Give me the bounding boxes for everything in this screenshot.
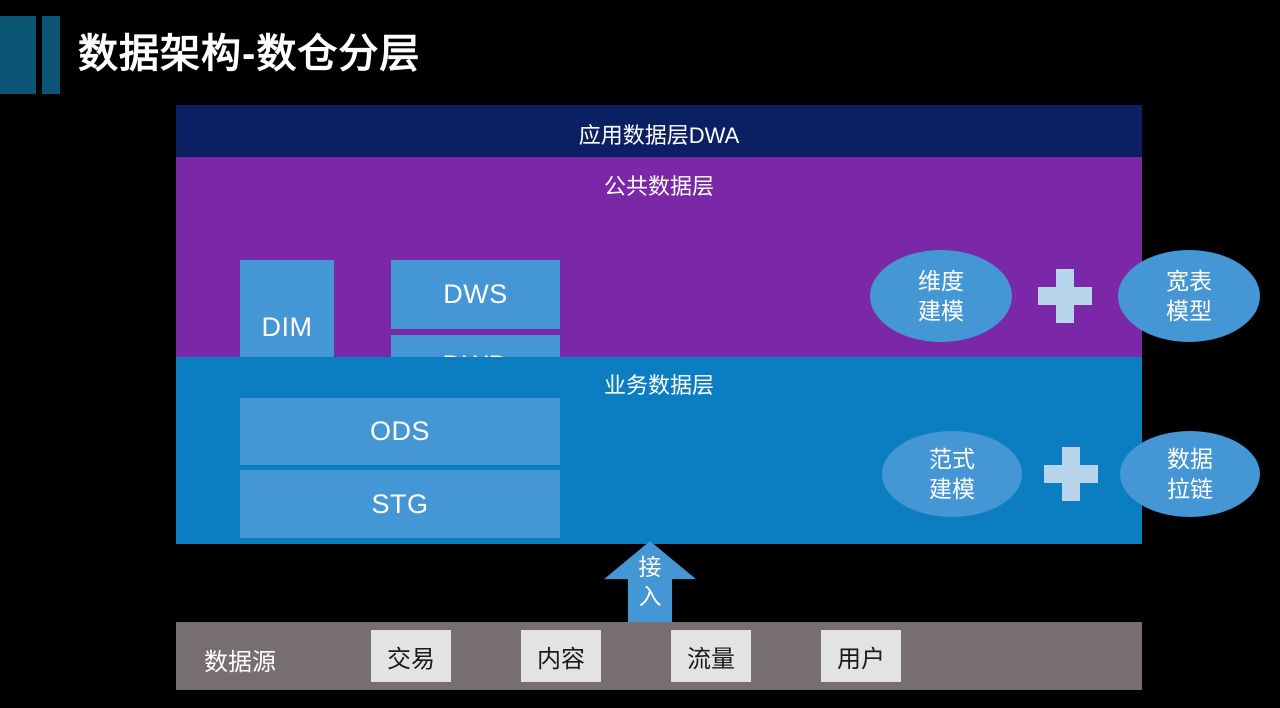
layer-dwa: 应用数据层DWA: [176, 105, 1142, 157]
ellipse-data-chain-line1: 数据: [1167, 444, 1213, 474]
ingest-arrow-up-icon: 接 入: [604, 541, 696, 624]
plus-icon: [1044, 447, 1098, 501]
data-source-bar: 数据源 交易 内容 流量 用户: [176, 622, 1142, 690]
source-chip-traffic[interactable]: 流量: [671, 630, 751, 682]
ellipse-normalized-modeling-line2: 建模: [929, 474, 975, 504]
source-chip-content[interactable]: 内容: [521, 630, 601, 682]
warehouse-layer-stack: 应用数据层DWA 公共数据层 DIM DWS DWD 维度 建模 宽表 模型 业…: [176, 105, 1142, 544]
ellipse-wide-table-model-line1: 宽表: [1166, 266, 1212, 296]
ellipse-dimensional-modeling[interactable]: 维度 建模: [870, 250, 1012, 342]
ingest-arrow-label-line2: 入: [604, 582, 696, 611]
ellipse-normalized-modeling[interactable]: 范式 建模: [882, 431, 1022, 517]
data-source-label: 数据源: [204, 642, 276, 677]
page-title: 数据架构-数仓分层: [78, 26, 420, 82]
source-chip-transaction[interactable]: 交易: [371, 630, 451, 682]
layer-dwp: 公共数据层 DIM DWS DWD 维度 建模 宽表 模型: [176, 157, 1142, 357]
ellipse-data-chain[interactable]: 数据 拉链: [1120, 431, 1260, 517]
accent-bar-wide-decoration: [0, 16, 36, 94]
layer-dwb-title: 业务数据层: [176, 368, 1142, 400]
plus-icon: [1038, 269, 1092, 323]
layer-dwb: 业务数据层 ODS STG 范式 建模 数据 拉链: [176, 357, 1142, 544]
ellipse-wide-table-model[interactable]: 宽表 模型: [1118, 250, 1260, 342]
box-dws[interactable]: DWS: [391, 260, 560, 329]
ellipse-data-chain-line2: 拉链: [1167, 474, 1213, 504]
model-group-dwb: 范式 建模 数据 拉链: [882, 431, 1260, 517]
ingest-arrow-label: 接 入: [604, 553, 696, 611]
data-source-chip-row: 交易 内容 流量 用户: [371, 630, 901, 682]
ingest-arrow-label-line1: 接: [604, 553, 696, 582]
ellipse-dimensional-modeling-line1: 维度: [918, 266, 964, 296]
ellipse-normalized-modeling-line1: 范式: [929, 444, 975, 474]
box-ods[interactable]: ODS: [240, 398, 560, 465]
ellipse-wide-table-model-line2: 模型: [1166, 296, 1212, 326]
slide-header: 数据架构-数仓分层: [0, 0, 1280, 100]
model-group-dwp: 维度 建模 宽表 模型: [870, 250, 1260, 342]
layer-dwp-title: 公共数据层: [176, 169, 1142, 201]
source-chip-user[interactable]: 用户: [821, 630, 901, 682]
box-stg[interactable]: STG: [240, 470, 560, 538]
layer-dwa-title: 应用数据层DWA: [176, 118, 1142, 150]
ellipse-dimensional-modeling-line2: 建模: [918, 296, 964, 326]
accent-bar-narrow-decoration: [42, 16, 60, 94]
